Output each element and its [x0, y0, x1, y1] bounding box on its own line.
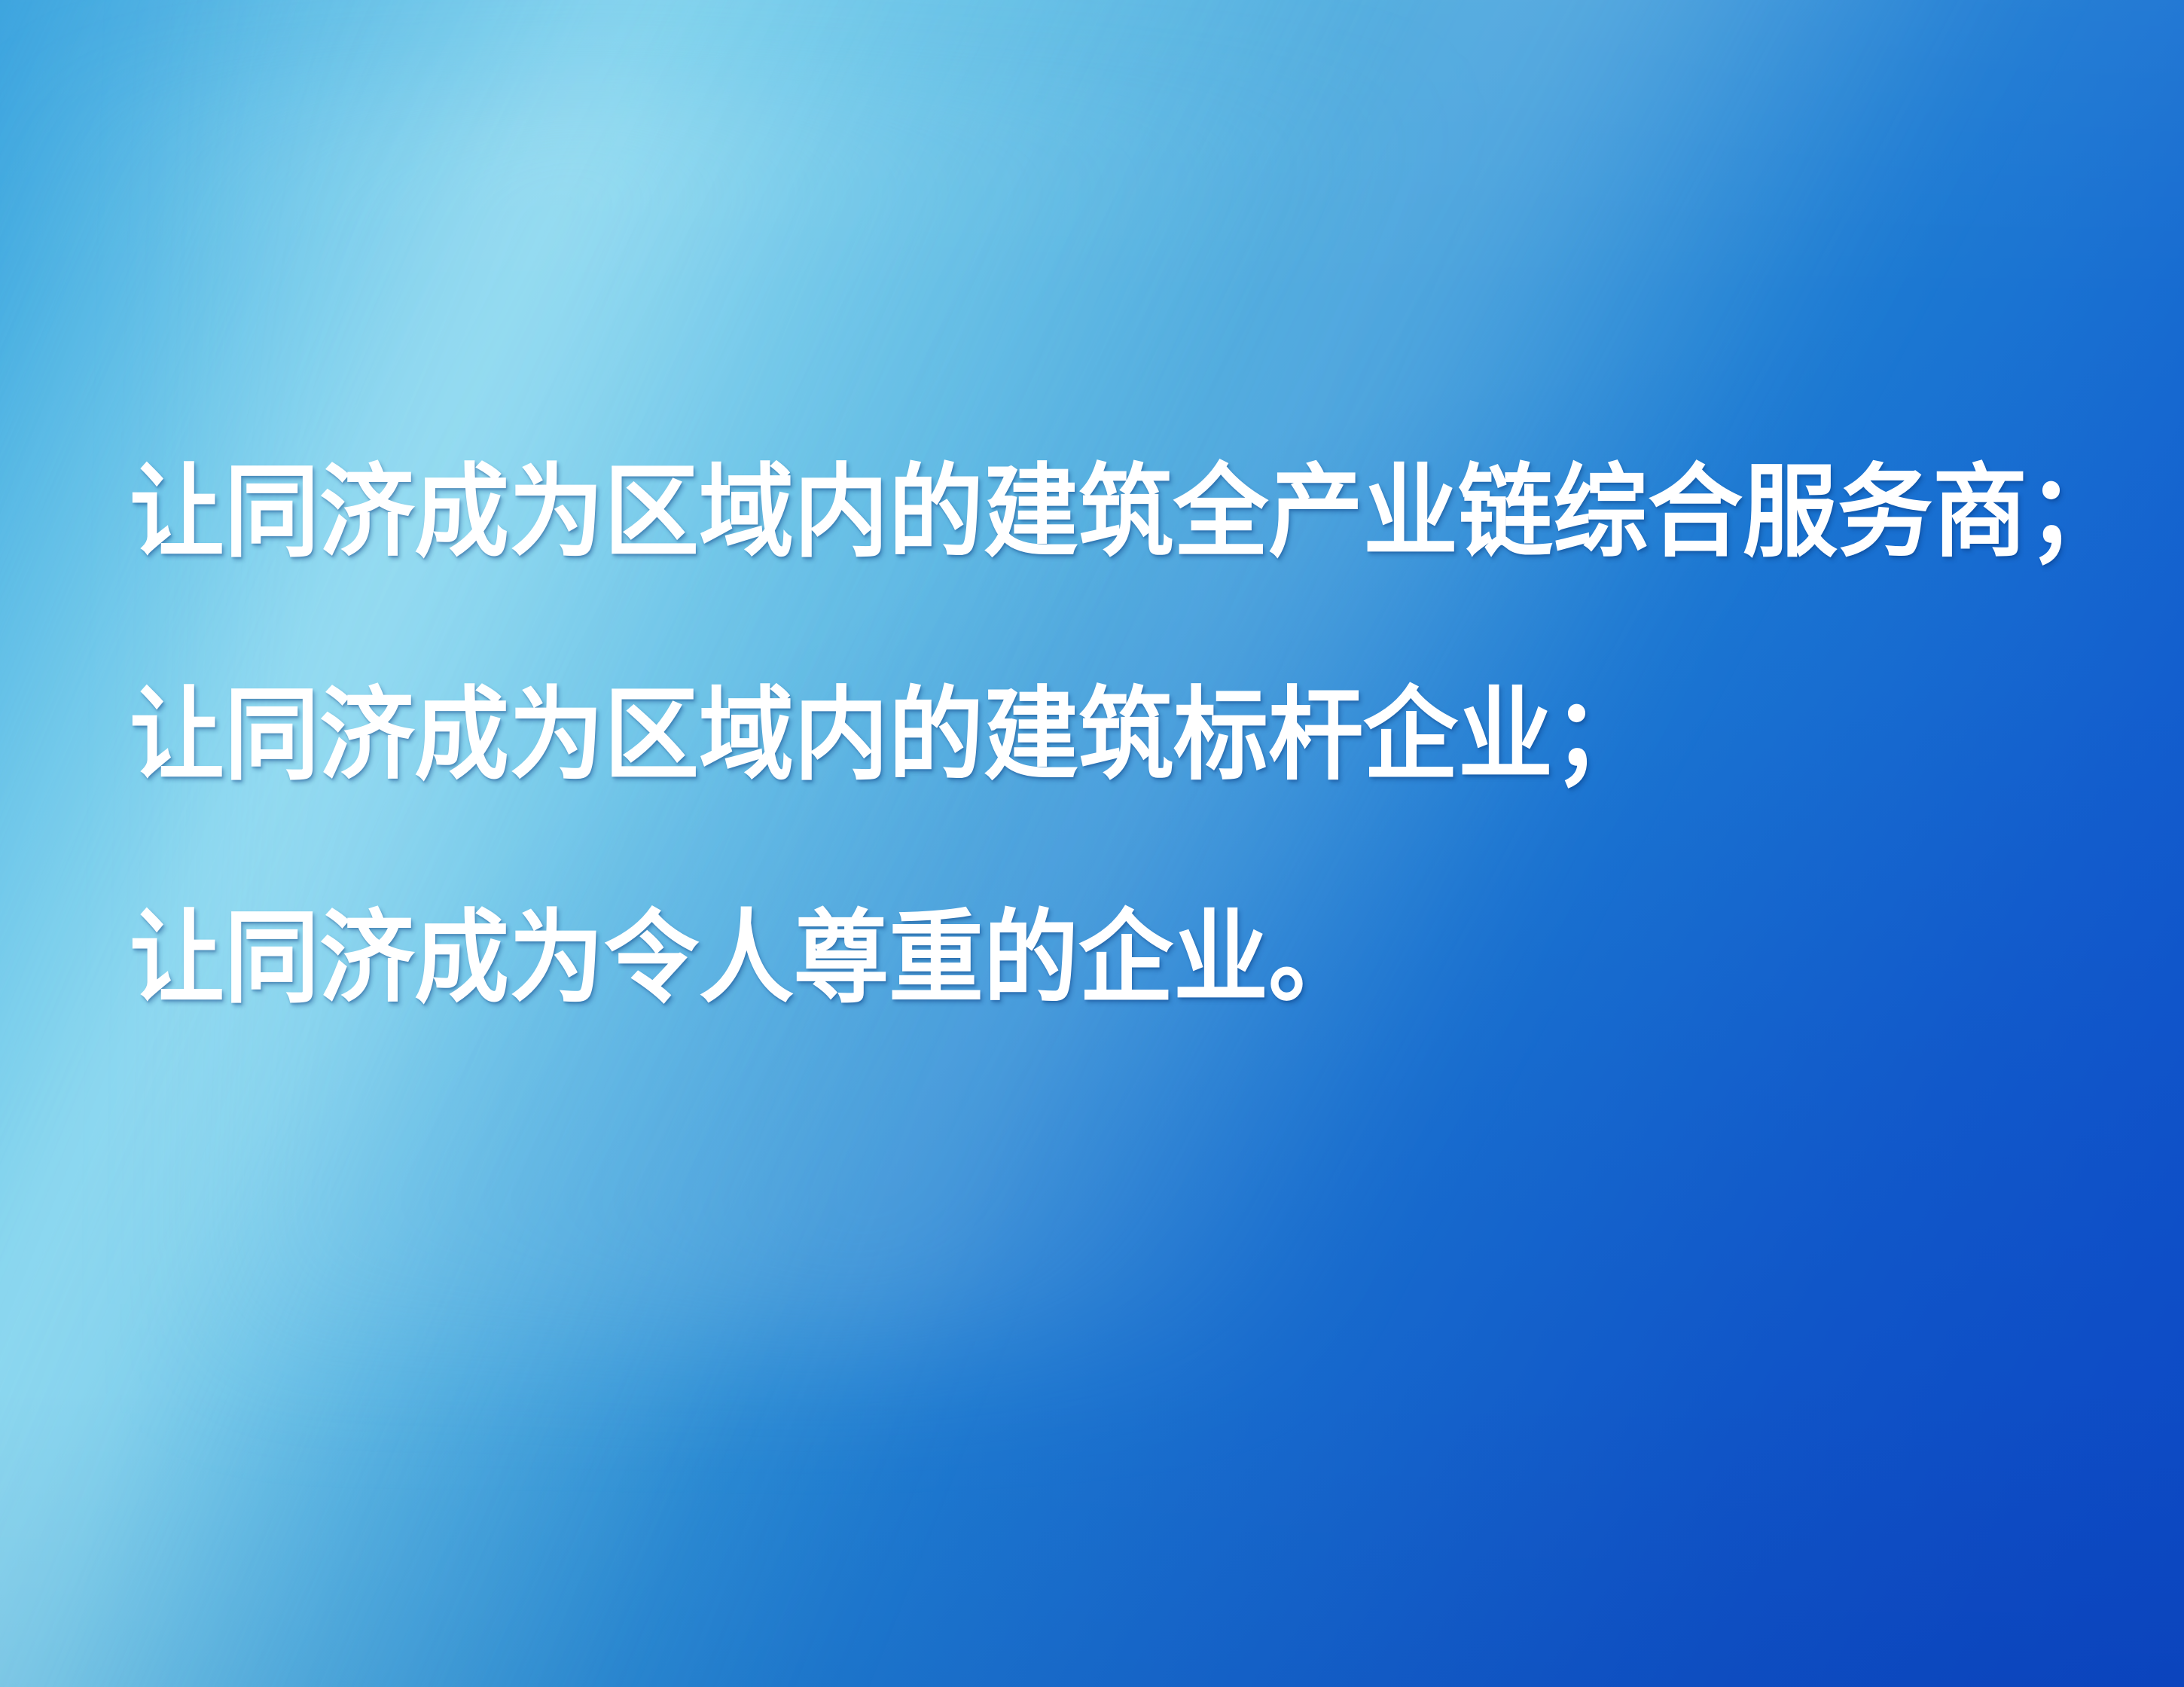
slide-text-line-1: 让同济成为区域内的建筑全产业链综合服务商；	[130, 461, 2088, 563]
slide-canvas: 让同济成为区域内的建筑全产业链综合服务商； 让同济成为区域内的建筑标杆企业； 让…	[0, 0, 2184, 1687]
slide-body-text: 让同济成为区域内的建筑全产业链综合服务商； 让同济成为区域内的建筑标杆企业； 让…	[130, 461, 2088, 1002]
slide-text-line-3: 让同济成为令人尊重的企业。	[130, 907, 2088, 1008]
slide-text-line-2: 让同济成为区域内的建筑标杆企业；	[130, 684, 2088, 786]
